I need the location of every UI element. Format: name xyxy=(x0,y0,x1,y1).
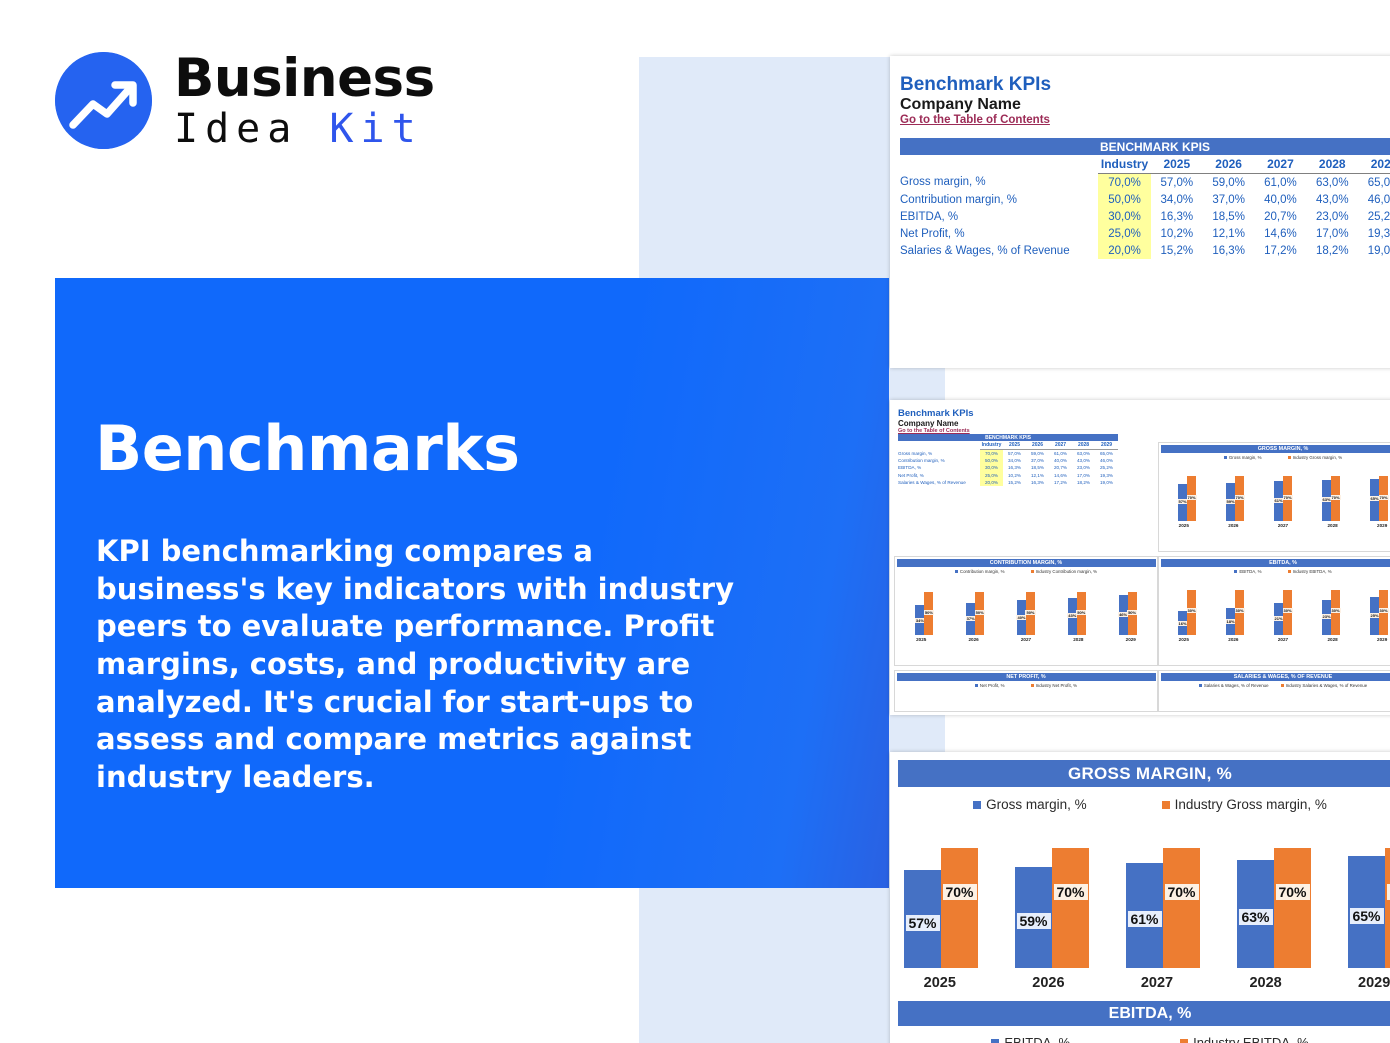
cell-value: 19,0% xyxy=(1095,479,1118,486)
bar: 70% xyxy=(1274,848,1311,968)
chart-x-axis: 20252026202720282029 xyxy=(1159,523,1390,528)
bar-group: 37%50% xyxy=(966,577,984,635)
bar: 50% xyxy=(975,592,984,635)
cell-value: 19,3% xyxy=(1095,472,1118,479)
column-header: 2026 xyxy=(1026,441,1049,450)
cell-value: 46,0% xyxy=(1095,457,1118,464)
x-tick-label: 2028 xyxy=(1327,523,1337,528)
table-title-band: BENCHMARK KPIS xyxy=(900,138,1390,155)
cell-value: 59,0% xyxy=(1026,450,1049,458)
legend-series-1: Salaries & Wages, % of Revenue xyxy=(1199,683,1269,688)
bar: 37% xyxy=(966,603,975,635)
bar-group: 63%70% xyxy=(1322,463,1340,521)
cell-value: 17,0% xyxy=(1072,472,1095,479)
bar: 30% xyxy=(1235,590,1244,635)
x-tick-label: 2026 xyxy=(968,637,978,642)
cell-value: 37,0% xyxy=(1026,457,1049,464)
cell-value: 12,1% xyxy=(1203,225,1255,242)
cell-value: 57,0% xyxy=(1151,174,1203,192)
chart-title: GROSS MARGIN, % xyxy=(1161,445,1390,453)
cell-value: 61,0% xyxy=(1255,174,1307,192)
cell-industry: 70,0% xyxy=(1098,174,1151,192)
bar: 50% xyxy=(1128,592,1137,635)
chart-salaries-wages-mini[interactable]: SALARIES & WAGES, % OF REVENUE Salaries … xyxy=(1158,670,1390,712)
table-row: Gross margin, %70,0%57,0%59,0%61,0%63,0%… xyxy=(898,450,1118,458)
column-header: 2026 xyxy=(1203,155,1255,174)
cell-industry: 50,0% xyxy=(1098,191,1151,208)
row-label: Salaries & Wages, % of Revenue xyxy=(898,479,980,486)
bar-value-label: 61% xyxy=(1127,911,1161,927)
legend-series-1: EBITDA, % xyxy=(991,1035,1070,1043)
chart-title: CONTRIBUTION MARGIN, % xyxy=(897,559,1156,567)
cell-value: 63,0% xyxy=(1072,450,1095,458)
cell-value: 46,0% xyxy=(1358,191,1390,208)
bar-group: 16%30% xyxy=(1178,577,1196,635)
table-row: Salaries & Wages, % of Revenue20,0%15,2%… xyxy=(900,242,1390,259)
legend-series-1: Contribution margin, % xyxy=(955,569,1005,574)
chart-legend: Gross margin, % Industry Gross margin, % xyxy=(1159,455,1390,460)
bar: 70% xyxy=(1235,476,1244,521)
cell-industry: 50,0% xyxy=(980,457,1003,464)
bar: 25% xyxy=(1370,597,1379,635)
bar: 40% xyxy=(1017,600,1026,634)
legend-series-2: Industry EBITDA, % xyxy=(1288,569,1332,574)
cell-value: 40,0% xyxy=(1255,191,1307,208)
bar: 57% xyxy=(1178,484,1187,520)
cell-value: 19,0% xyxy=(1358,242,1390,259)
bar: 30% xyxy=(1331,590,1340,635)
chart-x-axis: 20252026202720282029 xyxy=(895,637,1157,642)
bar-value-label: 59% xyxy=(1016,913,1050,929)
chart-title: SALARIES & WAGES, % OF REVENUE xyxy=(1161,673,1390,681)
row-label: Gross margin, % xyxy=(900,174,1098,192)
x-tick-label: 2025 xyxy=(1179,637,1189,642)
cell-industry: 25,0% xyxy=(1098,225,1151,242)
bar-group: 23%30% xyxy=(1322,577,1340,635)
hero-panel: Benchmarks KPI benchmarking compares a b… xyxy=(55,278,889,888)
cell-value: 10,2% xyxy=(1003,472,1026,479)
bar-group: 21%30% xyxy=(1274,577,1292,635)
table-row: EBITDA, %30,0%16,3%18,5%20,7%23,0%25,2% xyxy=(898,464,1118,471)
cell-value: 57,0% xyxy=(1003,450,1026,458)
bar: 30% xyxy=(1187,590,1196,635)
bar-value-label: 57% xyxy=(905,915,939,931)
bar: 65% xyxy=(1370,479,1379,521)
x-tick-label: 2026 xyxy=(1013,975,1085,991)
bar: 50% xyxy=(1026,592,1035,635)
cell-value: 14,6% xyxy=(1049,472,1072,479)
cell-value: 16,3% xyxy=(1026,479,1049,486)
sheet-company-name: Company Name xyxy=(898,419,1390,428)
cell-value: 16,3% xyxy=(1151,208,1203,225)
cell-value: 14,6% xyxy=(1255,225,1307,242)
cell-value: 19,3% xyxy=(1358,225,1390,242)
benchmark-kpi-table-mini: BENCHMARK KPISIndustry202520262027202820… xyxy=(898,434,1118,486)
row-label: EBITDA, % xyxy=(898,464,980,471)
cell-value: 15,2% xyxy=(1003,479,1026,486)
bar: 70% xyxy=(1379,476,1388,521)
chart-ebitda-mini[interactable]: EBITDA, % EBITDA, % Industry EBITDA, % 1… xyxy=(1158,556,1390,666)
row-label: Net Profit, % xyxy=(900,225,1098,242)
x-tick-label: 2027 xyxy=(1278,637,1288,642)
chart-title: NET PROFIT, % xyxy=(897,673,1156,681)
chart-contribution-margin-mini[interactable]: CONTRIBUTION MARGIN, % Contribution marg… xyxy=(894,556,1158,666)
brand-name-secondary: Idea Kit xyxy=(174,109,435,149)
brand-idea-text: Idea xyxy=(174,106,329,152)
column-header: 2029 xyxy=(1358,155,1390,174)
cell-value: 16,3% xyxy=(1203,242,1255,259)
bar-group: 61%70% xyxy=(1274,463,1292,521)
bar-group: 18%30% xyxy=(1226,577,1244,635)
x-tick-label: 2025 xyxy=(916,637,926,642)
chart-title-gross-margin: GROSS MARGIN, % xyxy=(898,760,1390,787)
bar-group: 43%50% xyxy=(1068,577,1086,635)
spreadsheet-card-dashboard: Benchmark KPIs Company Name Go to the Ta… xyxy=(890,400,1390,715)
slide-canvas: Business Idea Kit Benchmarks KPI benchma… xyxy=(0,0,1390,1043)
cell-value: 17,2% xyxy=(1255,242,1307,259)
bar-group: 59%70% xyxy=(1226,463,1244,521)
bar-value-label: 65% xyxy=(1349,908,1383,924)
cell-industry: 30,0% xyxy=(1098,208,1151,225)
table-row: Contribution margin, %50,0%34,0%37,0%40,… xyxy=(898,457,1118,464)
x-tick-label: 2027 xyxy=(1121,975,1193,991)
cell-value: 16,3% xyxy=(1003,464,1026,471)
brand-kit-text: Kit xyxy=(329,106,422,152)
chart-legend: Net Profit, % Industry Net Profit, % xyxy=(895,683,1157,688)
bar: 63% xyxy=(1322,480,1331,520)
chart-plot-area: 16%30%18%30%21%30%23%30%25%30% xyxy=(1163,577,1390,635)
bar: 65% xyxy=(1348,856,1385,968)
legend-series-1: Gross margin, % xyxy=(1224,455,1262,460)
bar-value-label: 70% xyxy=(1275,884,1309,900)
cell-value: 18,5% xyxy=(1026,464,1049,471)
chart-plot-area: 57%70%59%70%61%70%63%70%65%70% xyxy=(1163,463,1390,521)
cell-value: 17,2% xyxy=(1049,479,1072,486)
cell-value: 17,0% xyxy=(1306,225,1358,242)
spreadsheet-card-table: Benchmark KPIs Company Name Go to the Ta… xyxy=(890,56,1390,368)
x-tick-label: 2027 xyxy=(1021,637,1031,642)
column-header: Industry xyxy=(980,441,1003,450)
row-label: Gross margin, % xyxy=(898,450,980,458)
cell-value: 15,2% xyxy=(1151,242,1203,259)
bar: 30% xyxy=(1283,590,1292,635)
bar: 70% xyxy=(1163,848,1200,968)
bar: 61% xyxy=(1274,481,1283,520)
chart-legend: Gross margin, % Industry Gross margin, % xyxy=(890,797,1390,812)
legend-series-1: Gross margin, % xyxy=(973,797,1087,812)
column-header: 2027 xyxy=(1255,155,1307,174)
chart-net-profit-mini[interactable]: NET PROFIT, % Net Profit, % Industry Net… xyxy=(894,670,1158,712)
sheet-company-name: Company Name xyxy=(900,96,1390,114)
bar-group: 65%70% xyxy=(1370,463,1388,521)
bar: 30% xyxy=(1379,590,1388,635)
column-header: 2025 xyxy=(1003,441,1026,450)
table-of-contents-link[interactable]: Go to the Table of Contents xyxy=(900,114,1390,126)
cell-value: 61,0% xyxy=(1049,450,1072,458)
chart-legend: Salaries & Wages, % of Revenue Industry … xyxy=(1159,683,1390,688)
chart-plot-area: 34%50%37%50%40%50%43%50%46%50% xyxy=(899,577,1153,635)
bar: 23% xyxy=(1322,600,1331,635)
table-row: Contribution margin, %50,0%34,0%37,0%40,… xyxy=(900,191,1390,208)
bar: 46% xyxy=(1119,595,1128,635)
cell-industry: 25,0% xyxy=(980,472,1003,479)
chart-plot-area: 57%70%59%70%61%70%63%70%65%70% xyxy=(904,828,1390,968)
bar-group: 65%70% xyxy=(1348,828,1390,968)
bar-group: 61%70% xyxy=(1126,828,1200,968)
bar: 70% xyxy=(1052,848,1089,968)
row-label: Contribution margin, % xyxy=(900,191,1098,208)
row-label: EBITDA, % xyxy=(900,208,1098,225)
table-row: EBITDA, %30,0%16,3%18,5%20,7%23,0%25,2% xyxy=(900,208,1390,225)
x-tick-label: 2029 xyxy=(1377,637,1387,642)
sheet-title: Benchmark KPIs xyxy=(900,74,1390,96)
bar: 59% xyxy=(1226,483,1235,521)
cell-value: 20,7% xyxy=(1049,464,1072,471)
table-title-band: BENCHMARK KPIS xyxy=(898,434,1118,441)
page-title: Benchmarks xyxy=(95,418,520,480)
cell-value: 40,0% xyxy=(1049,457,1072,464)
bar-value-label: 70% xyxy=(1053,884,1087,900)
chart-legend: Contribution margin, % Industry Contribu… xyxy=(895,569,1157,574)
column-header: 2029 xyxy=(1095,441,1118,450)
x-tick-label: 2025 xyxy=(904,975,976,991)
cell-value: 20,7% xyxy=(1255,208,1307,225)
x-tick-label: 2029 xyxy=(1126,637,1136,642)
cell-value: 34,0% xyxy=(1003,457,1026,464)
bar: 70% xyxy=(1283,476,1292,521)
bar: 43% xyxy=(1068,598,1077,635)
bar-value-label: 70% xyxy=(1164,884,1198,900)
bar-group: 25%30% xyxy=(1370,577,1388,635)
chart-title-ebitda: EBITDA, % xyxy=(898,1001,1390,1026)
cell-value: 63,0% xyxy=(1306,174,1358,192)
bar-group: 63%70% xyxy=(1237,828,1311,968)
bar: 70% xyxy=(1331,476,1340,521)
cell-industry: 70,0% xyxy=(980,450,1003,458)
bar-group: 34%50% xyxy=(915,577,933,635)
legend-series-2: Industry Contribution margin, % xyxy=(1031,569,1098,574)
table-row: Gross margin, %70,0%57,0%59,0%61,0%63,0%… xyxy=(900,174,1390,192)
chart-x-axis: 20252026202720282029 xyxy=(904,975,1390,991)
bar: 70% xyxy=(941,848,978,968)
x-tick-label: 2029 xyxy=(1377,523,1387,528)
cell-value: 65,0% xyxy=(1095,450,1118,458)
hero-description: KPI benchmarking compares a business's k… xyxy=(96,533,756,797)
bar-group: 46%50% xyxy=(1119,577,1137,635)
cell-value: 37,0% xyxy=(1203,191,1255,208)
bar: 63% xyxy=(1237,860,1274,968)
cell-value: 43,0% xyxy=(1306,191,1358,208)
column-header: 2025 xyxy=(1151,155,1203,174)
cell-value: 65,0% xyxy=(1358,174,1390,192)
chart-title: EBITDA, % xyxy=(1161,559,1390,567)
bar-group: 59%70% xyxy=(1015,828,1089,968)
cell-value: 12,1% xyxy=(1026,472,1049,479)
legend-series-2: Industry Gross margin, % xyxy=(1288,455,1343,460)
legend-series-2: Industry Salaries & Wages, % of Revenue xyxy=(1281,683,1368,688)
cell-industry: 20,0% xyxy=(1098,242,1151,259)
x-tick-label: 2027 xyxy=(1278,523,1288,528)
bar-value-label: 63% xyxy=(1238,909,1272,925)
cell-industry: 20,0% xyxy=(980,479,1003,486)
bar: 70% xyxy=(1187,476,1196,521)
cell-value: 18,5% xyxy=(1203,208,1255,225)
cell-value: 23,0% xyxy=(1072,464,1095,471)
x-tick-label: 2028 xyxy=(1327,637,1337,642)
bar-value-label: 70% xyxy=(1386,884,1390,900)
cell-value: 34,0% xyxy=(1151,191,1203,208)
benchmark-kpi-table: BENCHMARK KPISIndustry202520262027202820… xyxy=(900,138,1390,259)
cell-value: 43,0% xyxy=(1072,457,1095,464)
bar-group: 57%70% xyxy=(904,828,978,968)
column-header: 2028 xyxy=(1306,155,1358,174)
cell-value: 25,2% xyxy=(1095,464,1118,471)
table-row: Salaries & Wages, % of Revenue20,0%15,2%… xyxy=(898,479,1118,486)
bar: 70% xyxy=(1385,848,1390,968)
cell-value: 23,0% xyxy=(1306,208,1358,225)
column-header: 2027 xyxy=(1049,441,1072,450)
legend-series-2: Industry EBITDA, % xyxy=(1180,1035,1309,1043)
bar-group: 40%50% xyxy=(1017,577,1035,635)
chart-x-axis: 20252026202720282029 xyxy=(1159,637,1390,642)
x-tick-label: 2025 xyxy=(1179,523,1189,528)
bar-value-label: 70% xyxy=(942,884,976,900)
cell-industry: 30,0% xyxy=(980,464,1003,471)
column-header: 2028 xyxy=(1072,441,1095,450)
x-tick-label: 2026 xyxy=(1228,523,1238,528)
bar: 61% xyxy=(1126,863,1163,968)
cell-value: 18,2% xyxy=(1306,242,1358,259)
bar: 50% xyxy=(924,592,933,635)
row-label: Contribution margin, % xyxy=(898,457,980,464)
brand-logo: Business Idea Kit xyxy=(55,52,435,149)
trending-up-arrow-icon xyxy=(55,52,152,149)
cell-value: 25,2% xyxy=(1358,208,1390,225)
x-tick-label: 2028 xyxy=(1230,975,1302,991)
cell-value: 10,2% xyxy=(1151,225,1203,242)
bar: 16% xyxy=(1178,611,1187,635)
x-tick-label: 2026 xyxy=(1228,637,1238,642)
spreadsheet-card-large-chart: GROSS MARGIN, % Gross margin, % Industry… xyxy=(890,752,1390,1043)
x-tick-label: 2029 xyxy=(1338,975,1390,991)
legend-series-1: Net Profit, % xyxy=(975,683,1005,688)
chart-legend: EBITDA, % Industry EBITDA, % xyxy=(1159,569,1390,574)
table-row: Net Profit, %25,0%10,2%12,1%14,6%17,0%19… xyxy=(898,472,1118,479)
cell-value: 59,0% xyxy=(1203,174,1255,192)
chart-legend-ebitda: EBITDA, % Industry EBITDA, % xyxy=(890,1035,1390,1043)
legend-series-1: EBITDA, % xyxy=(1234,569,1261,574)
column-header: Industry xyxy=(1098,155,1151,174)
bar: 59% xyxy=(1015,867,1052,968)
row-label: Net Profit, % xyxy=(898,472,980,479)
legend-series-2: Industry Net Profit, % xyxy=(1031,683,1077,688)
legend-series-2: Industry Gross margin, % xyxy=(1162,797,1327,812)
bar: 50% xyxy=(1077,592,1086,635)
table-row: Net Profit, %25,0%10,2%12,1%14,6%17,0%19… xyxy=(900,225,1390,242)
x-tick-label: 2028 xyxy=(1073,637,1083,642)
row-label: Salaries & Wages, % of Revenue xyxy=(900,242,1098,259)
cell-value: 18,2% xyxy=(1072,479,1095,486)
bar-group: 57%70% xyxy=(1178,463,1196,521)
sheet-title: Benchmark KPIs xyxy=(898,408,1390,419)
bar: 57% xyxy=(904,870,941,968)
brand-name-primary: Business xyxy=(174,52,435,105)
chart-gross-margin-mini[interactable]: GROSS MARGIN, % Gross margin, % Industry… xyxy=(1158,442,1390,552)
